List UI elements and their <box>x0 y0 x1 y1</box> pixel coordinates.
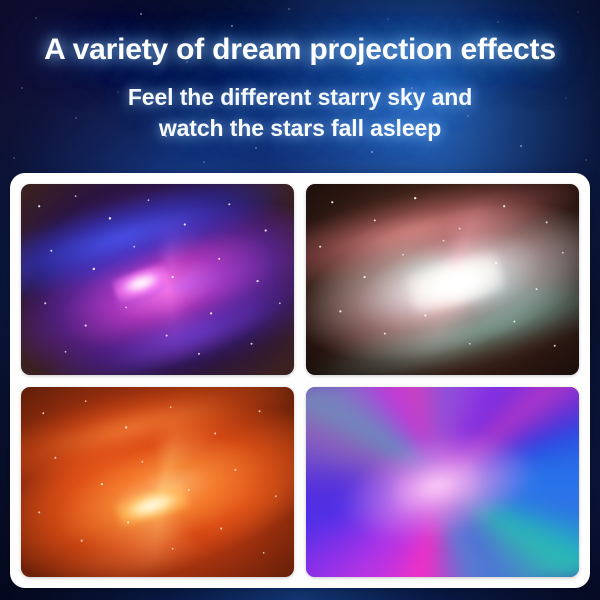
white-galaxy-stars <box>306 184 579 366</box>
gallery-item-rainbow-galaxy[interactable] <box>306 387 579 578</box>
page-title: A variety of dream projection effects <box>0 0 600 67</box>
gallery-grid <box>21 184 579 577</box>
gallery-item-orange-galaxy[interactable] <box>21 387 294 578</box>
orange-galaxy-stars <box>21 387 294 569</box>
promo-banner: A variety of dream projection effects Fe… <box>0 0 600 600</box>
gallery-item-white-galaxy[interactable] <box>306 184 579 375</box>
header-text-block: A variety of dream projection effects Fe… <box>0 0 600 144</box>
subtitle: Feel the different starry sky and watch … <box>0 67 600 144</box>
subtitle-line-1: Feel the different starry sky and <box>128 84 472 110</box>
purple-galaxy-stars <box>21 184 294 366</box>
gallery-item-purple-galaxy[interactable] <box>21 184 294 375</box>
subtitle-line-2: watch the stars fall asleep <box>159 115 441 141</box>
gallery-card <box>10 173 590 588</box>
